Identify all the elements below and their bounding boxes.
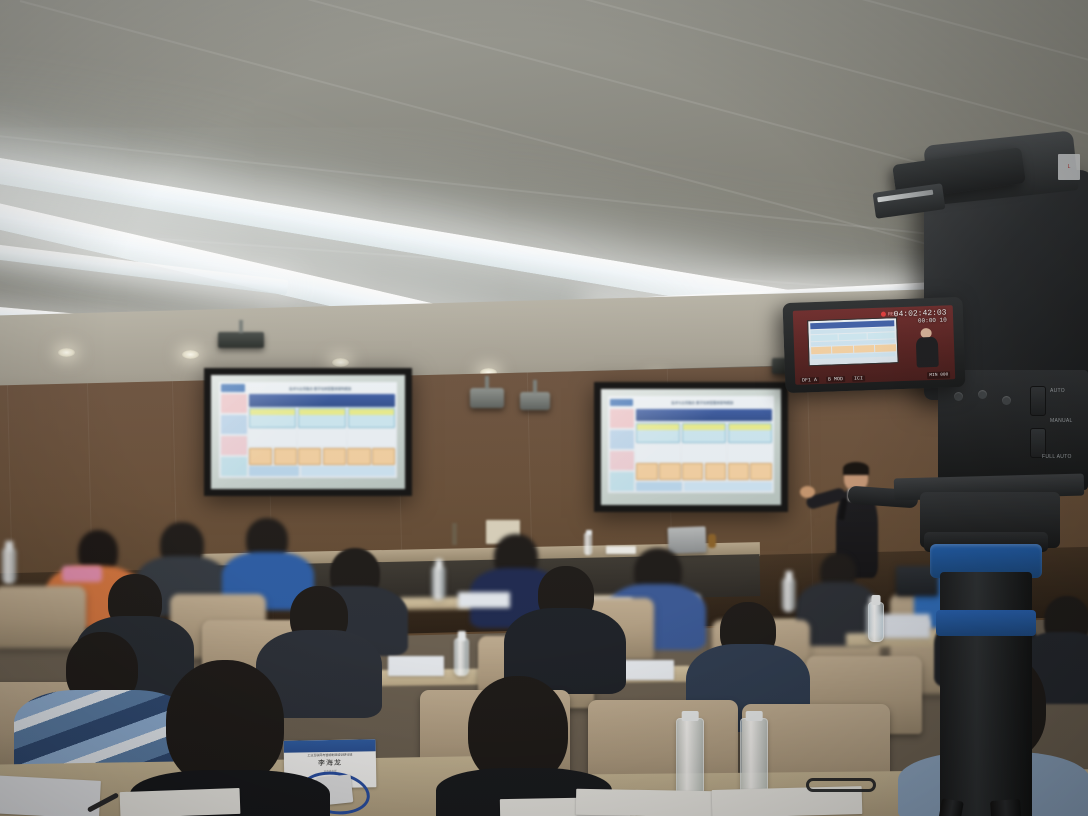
tripod-lock-ring[interactable] <box>936 610 1036 636</box>
name-tent <box>618 660 674 680</box>
name-card-name: 李海龙 <box>318 758 342 768</box>
paper-handout <box>576 789 716 816</box>
desk-microphone <box>708 534 716 548</box>
water-bottle <box>676 718 704 796</box>
slide-header-band <box>636 409 771 422</box>
left-projection-screen: 技术与业务融合·数字化转型整体架构规划 <box>204 368 412 496</box>
water-bottle <box>432 566 445 600</box>
rec-dot <box>881 312 886 317</box>
slide-sidebar <box>221 394 247 475</box>
video-camera-rig: L AUTO MANUAL FULL AUTO <box>794 140 1088 816</box>
camera-button[interactable] <box>978 390 987 399</box>
paper-handout <box>120 788 241 816</box>
water-bottle <box>454 638 469 676</box>
slide-title: 技术与业务融合·数字化转型整体架构规划 <box>245 386 395 391</box>
right-slide: 技术与业务融合·数字化转型整体架构规划 <box>608 396 774 493</box>
slide-footer-row <box>636 482 771 491</box>
slide-logo <box>221 384 245 391</box>
timecode-display: 04:02:42:03 00:00 10 <box>894 308 947 326</box>
laptop <box>668 526 707 553</box>
water-bottle <box>2 548 16 584</box>
left-slide: 技术与业务融合·数字化转型整体架构规划 <box>219 382 397 478</box>
right-projection-screen: 技术与业务融合·数字化转型整体架构规划 <box>594 382 788 512</box>
status-chip-2: B MOD <box>826 376 845 383</box>
lecture-room-photo: 技术与业务融合·数字化转型整体架构规划 <box>0 0 1088 816</box>
slide-header-band <box>249 394 395 406</box>
slide-cyan-row <box>636 423 771 443</box>
attendee-head <box>166 660 284 786</box>
name-tent <box>458 592 510 608</box>
status-chip-3: ICI <box>852 375 865 381</box>
slide-title: 技术与业务融合·数字化转型整体架构规划 <box>633 400 772 405</box>
attendee-scarf <box>62 566 102 582</box>
camera-control-panel[interactable]: AUTO MANUAL FULL AUTO <box>938 370 1088 490</box>
slide-footer-row <box>249 466 395 475</box>
tripod-center-column <box>940 572 1032 816</box>
camera-button[interactable] <box>1002 396 1011 405</box>
camera-auto-label: AUTO <box>1050 388 1065 394</box>
viewfinder-screen: REC 04:02:42:03 00:00 10 DF1 A B MOD ICI… <box>793 305 955 385</box>
chair <box>0 586 86 648</box>
ceiling-speaker <box>520 392 550 410</box>
slide-cyan-row <box>249 408 395 428</box>
slide-sidebar <box>610 409 634 492</box>
paper-handout <box>606 546 636 554</box>
tripod-leg <box>911 798 964 816</box>
slide-orange-row <box>636 463 771 480</box>
camera-full-auto-label: FULL AUTO <box>1042 454 1072 460</box>
ceiling-speaker <box>470 388 504 408</box>
viewfinder-presenter <box>913 328 940 367</box>
recessed-downlight <box>182 350 199 359</box>
water-bottle <box>584 533 592 555</box>
water-bottle <box>740 718 768 796</box>
camera-toggle-switch[interactable] <box>1030 386 1046 416</box>
battery-indicator: MIN 000 <box>927 371 950 379</box>
slide-mid-row <box>249 430 395 447</box>
camera-brand-plate: L <box>1058 154 1080 180</box>
camera-manual-label: MANUAL <box>1050 418 1073 424</box>
name-card-header <box>284 739 376 753</box>
recessed-downlight <box>332 358 349 367</box>
status-chip-1: DF1 A <box>800 376 819 383</box>
camera-button[interactable] <box>954 392 963 401</box>
slide-mid-row <box>636 445 771 462</box>
name-card-event: 工业互联网与智能制造培训研讨班 <box>307 753 352 758</box>
name-tent <box>388 656 444 676</box>
camera-viewfinder[interactable]: REC 04:02:42:03 00:00 10 DF1 A B MOD ICI… <box>782 297 965 393</box>
viewfinder-slide-preview <box>808 318 899 367</box>
slide-logo <box>610 399 633 406</box>
ceiling-projector <box>218 332 264 348</box>
recessed-downlight <box>58 348 75 357</box>
desk-lamp <box>452 523 457 545</box>
paper-handout <box>0 775 101 816</box>
slide-orange-row <box>249 448 395 465</box>
